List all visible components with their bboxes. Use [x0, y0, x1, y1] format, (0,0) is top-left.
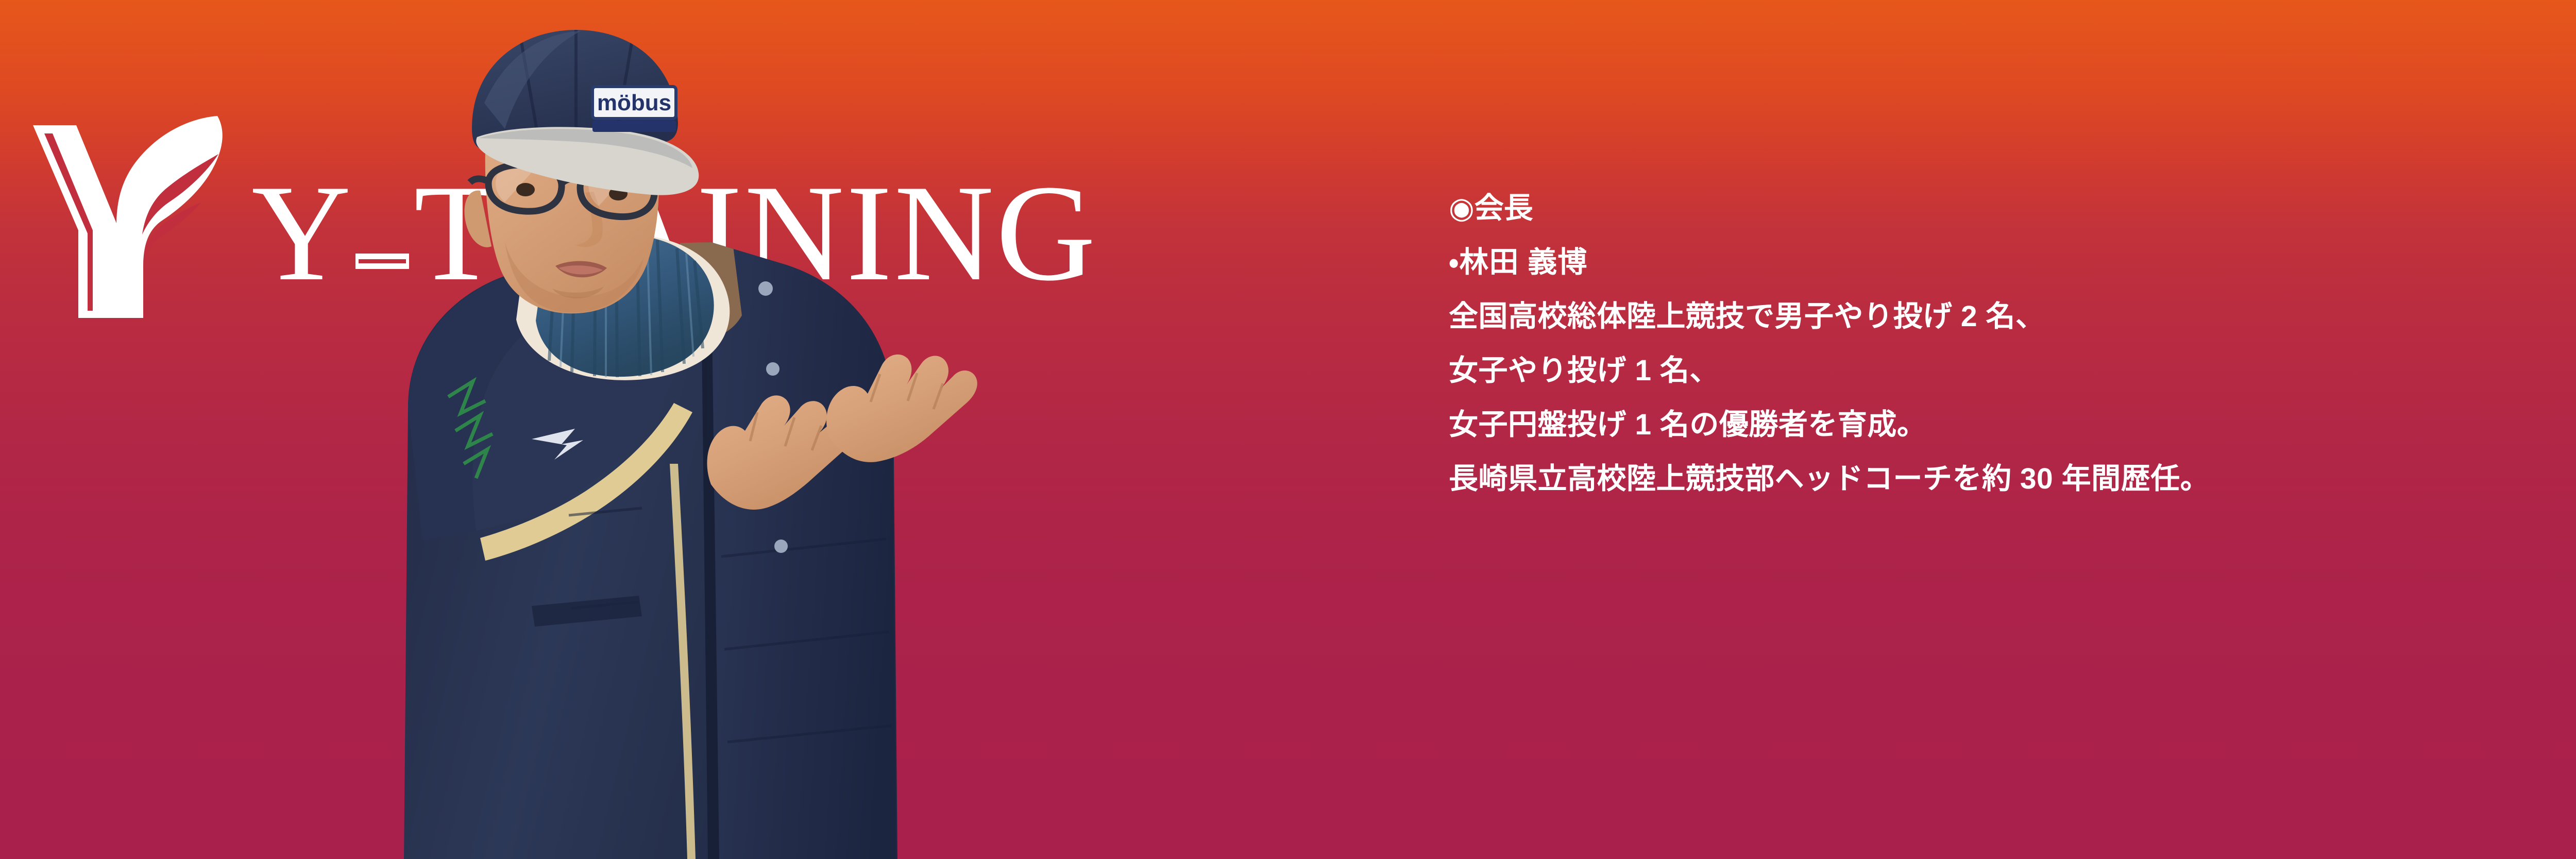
coach-portrait-photo: möbus: [350, 0, 1020, 859]
profile-bio-line-3: 女子円盤投げ 1 名の優勝者を育成。: [1449, 398, 2531, 452]
profile-bio-line-2: 女子やり投げ 1 名、: [1449, 344, 2531, 398]
svg-text:möbus: möbus: [597, 90, 671, 115]
wordmark-prefix: Y: [251, 156, 353, 309]
profile-bio-line-1: 全国高校総体陸上競技で男子やり投げ 2 名、: [1449, 290, 2531, 344]
hero-banner: YTRAINING: [0, 0, 2576, 859]
profile-role: ◉会長: [1449, 181, 2531, 235]
profile-text-block: ◉会長 ・林田 義博 全国高校総体陸上競技で男子やり投げ 2 名、 女子やり投げ…: [1449, 181, 2531, 506]
profile-name: ・林田 義博: [1449, 235, 2531, 290]
y-flame-logo-icon: [15, 116, 242, 322]
profile-bio-line-4: 長崎県立高校陸上競技部ヘッドコーチを約 30 年間歴任。: [1449, 452, 2531, 506]
cap-brand-patch: möbus: [592, 87, 676, 132]
